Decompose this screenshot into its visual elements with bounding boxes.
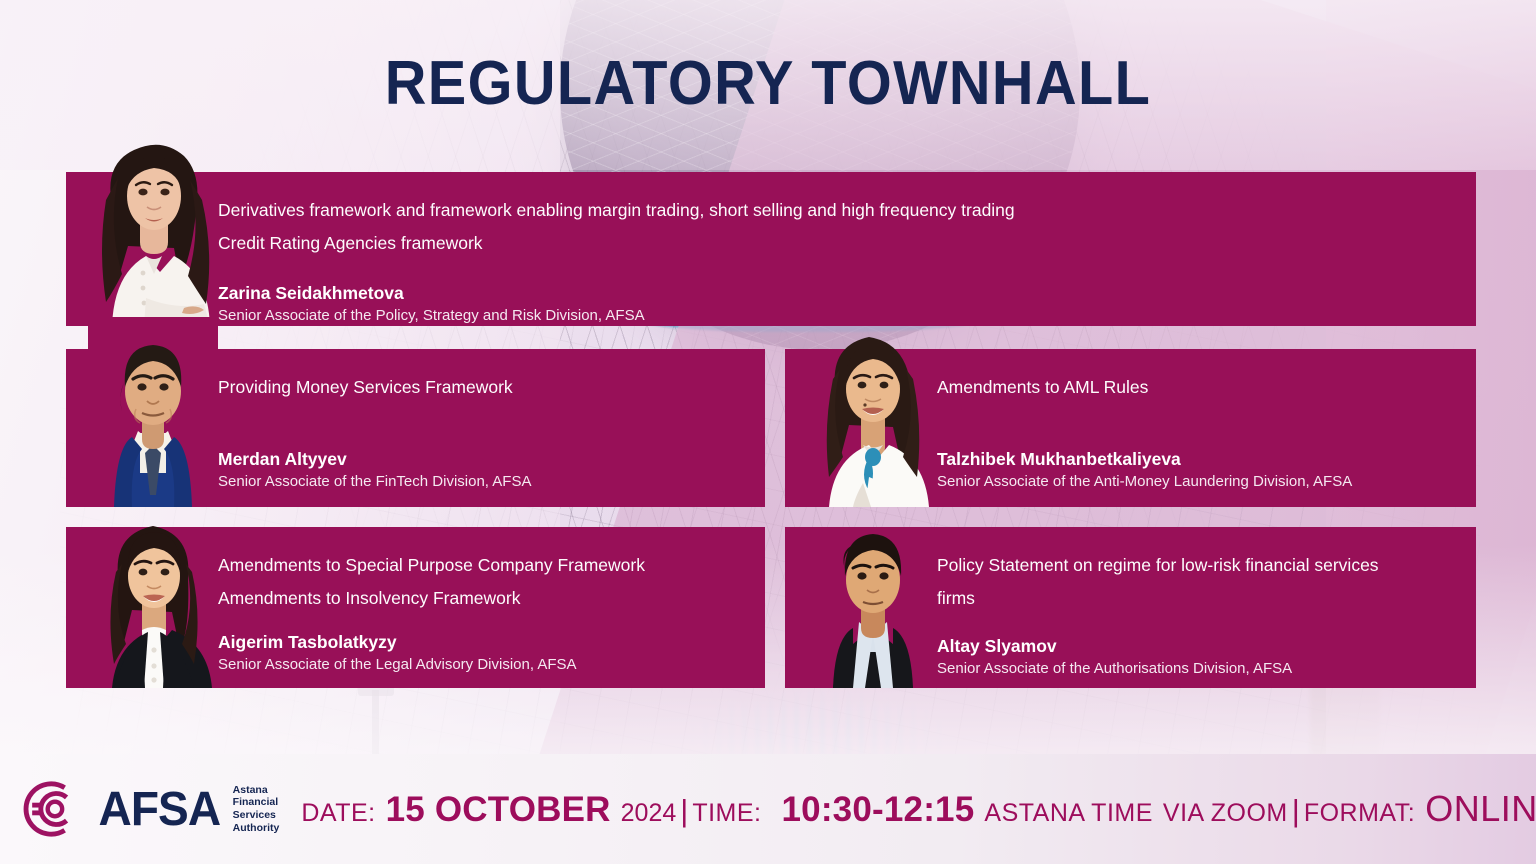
afsa-logo-subtitle: Astana Financial Services Authority [233, 784, 280, 834]
speaker-panel-merdan: Providing Money Services Framework Merda… [66, 349, 765, 507]
panel-text-merdan: Providing Money Services Framework Merda… [218, 349, 748, 492]
speaker-role: Senior Associate of the Authorisations D… [937, 658, 1457, 679]
speaker-panel-talzhibek: Amendments to AML Rules Talzhibek Mukhan… [785, 349, 1476, 507]
topic-line: Amendments to AML Rules [937, 371, 1457, 404]
speaker-name: Altay Slyamov [937, 635, 1457, 658]
speaker-role: Senior Associate of the Anti-Money Laund… [937, 471, 1457, 492]
portrait-illustration-altay [807, 514, 937, 688]
separator: | [1288, 793, 1304, 829]
logo-sub-line: Astana [233, 784, 280, 797]
topic-line: Credit Rating Agencies framework [218, 227, 1448, 260]
separator: | [676, 793, 692, 829]
speaker-name: Merdan Altyyev [218, 448, 748, 471]
speaker-name: Talzhibek Mukhanbetkaliyeva [937, 448, 1457, 471]
format-label: FORMAT: [1304, 799, 1415, 828]
page-title: REGULATORY TOWNHALL [54, 50, 1482, 118]
year-value: 2024 [621, 799, 677, 828]
speaker-role: Senior Associate of the Policy, Strategy… [218, 305, 1448, 326]
afsa-logo-icon [22, 778, 84, 840]
topic-line: Derivatives framework and framework enab… [218, 194, 1448, 227]
speaker-name: Zarina Seidakhmetova [218, 282, 1448, 305]
format-value: ONLINE [1425, 788, 1536, 830]
time-label: TIME: [692, 799, 761, 828]
panel-text-altay: Policy Statement on regime for low-risk … [937, 527, 1457, 679]
platform-value: VIA ZOOM [1163, 799, 1288, 828]
speaker-panel-altay: Policy Statement on regime for low-risk … [785, 527, 1476, 688]
poster-canvas: REGULATORY TOWNHALL [0, 0, 1536, 864]
topic-line: Amendments to Special Purpose Company Fr… [218, 549, 748, 582]
speaker-name: Aigerim Tasbolatkyzy [218, 631, 748, 654]
speaker-panel-aigerim: Amendments to Special Purpose Company Fr… [66, 527, 765, 688]
afsa-logo-wordmark: AFSA [99, 782, 221, 837]
date-label: DATE: [301, 799, 375, 828]
logo-sub-line: Services [233, 809, 280, 822]
topic-line: Providing Money Services Framework [218, 371, 748, 404]
topic-line: Policy Statement on regime for low-risk … [937, 549, 1407, 615]
panel-text-zarina: Derivatives framework and framework enab… [218, 172, 1448, 326]
time-value: 10:30-12:15 [782, 790, 975, 830]
speaker-panel-zarina: Derivatives framework and framework enab… [66, 172, 1476, 326]
logo-sub-line: Financial [233, 796, 280, 809]
speaker-role: Senior Associate of the Legal Advisory D… [218, 654, 748, 675]
timezone-value: ASTANA TIME [984, 799, 1153, 828]
speaker-photo-altay [807, 514, 937, 688]
portrait-illustration-aigerim [88, 510, 218, 688]
panel-text-talzhibek: Amendments to AML Rules Talzhibek Mukhan… [937, 349, 1457, 492]
speaker-photo-aigerim [88, 510, 218, 688]
panel-text-aigerim: Amendments to Special Purpose Company Fr… [218, 527, 748, 675]
afsa-logo: AFSA Astana Financial Services Authority [22, 778, 279, 840]
speaker-role: Senior Associate of the FinTech Division… [218, 471, 748, 492]
topic-line: Amendments to Insolvency Framework [218, 582, 748, 615]
footer-bar: AFSA Astana Financial Services Authority… [0, 754, 1536, 864]
date-value: 15 OCTOBER [386, 790, 611, 830]
event-details: DATE: 15 OCTOBER 2024 | TIME: 10:30-12:1… [301, 788, 1536, 830]
logo-sub-line: Authority [233, 822, 280, 835]
